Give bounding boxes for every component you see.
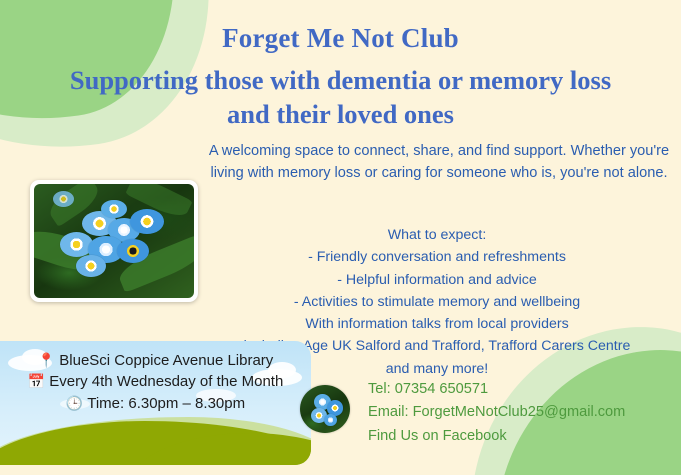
details-text: 📍 BlueSci Coppice Avenue Library 📅 Every… — [0, 350, 311, 414]
main-photo-frame — [30, 180, 198, 302]
intro-paragraph: A welcoming space to connect, share, and… — [200, 140, 678, 184]
subtitle-line-2: and their loved ones — [8, 98, 673, 132]
flyer-canvas: Forget Me Not Club Supporting those with… — [0, 0, 681, 475]
facebook-link[interactable]: Find Us on Facebook — [368, 425, 625, 448]
page-subtitle: Supporting those with dementia or memory… — [0, 64, 681, 132]
forget-me-not-flowers-photo — [34, 184, 194, 298]
page-title: Forget Me Not Club — [0, 22, 681, 56]
heading-group: Forget Me Not Club Supporting those with… — [0, 22, 681, 132]
intro-line-1: A welcoming space to connect, share, and… — [209, 143, 567, 159]
contact-block: Tel: 07354 650571 Email: ForgetMeNotClub… — [368, 378, 625, 448]
what-to-expect-heading: What to expect: — [196, 224, 678, 246]
subtitle-line-1: Supporting those with dementia or memory… — [8, 64, 673, 98]
time-line: 🕒 Time: 6.30pm – 8.30pm — [0, 393, 311, 414]
forget-me-not-flowers-thumbnail — [300, 385, 350, 433]
expect-item-1: - Friendly conversation and refreshments — [196, 246, 678, 268]
expect-item-2: - Helpful information and advice — [196, 269, 678, 291]
details-info-box: 📍 BlueSci Coppice Avenue Library 📅 Every… — [0, 341, 311, 465]
telephone-value[interactable]: Tel: 07354 650571 — [368, 378, 625, 401]
calendar-icon: 📅 — [28, 373, 45, 389]
location-value: BlueSci Coppice Avenue Library — [59, 352, 273, 369]
round-pushpin-icon: 📍 — [38, 352, 55, 368]
expect-item-3: - Activities to stimulate memory and wel… — [196, 291, 678, 313]
expect-item-4: With information talks from local provid… — [196, 313, 678, 335]
clock-icon: 🕒 — [66, 395, 83, 411]
date-value: Every 4th Wednesday of the Month — [49, 373, 283, 390]
location-line: 📍 BlueSci Coppice Avenue Library — [0, 350, 311, 371]
time-value: Time: 6.30pm – 8.30pm — [87, 395, 245, 412]
email-value[interactable]: Email: ForgetMeNotClub25@gmail.com — [368, 401, 625, 424]
date-line: 📅 Every 4th Wednesday of the Month — [0, 371, 311, 392]
intro-line-3: someone who is, you're not alone. — [447, 165, 668, 181]
